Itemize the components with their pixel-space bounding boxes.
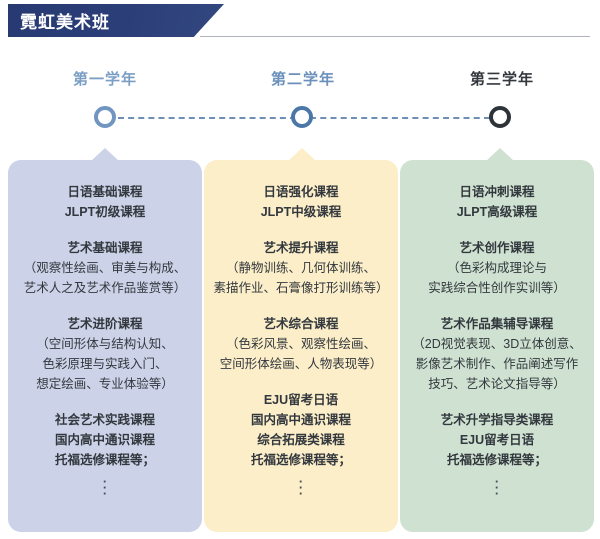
course-group: 艺术提升课程（静物训练、几何体训练、素描作业、石膏像打形训练等） (210, 238, 392, 298)
course-title-line: 托福选修课程等； (406, 450, 588, 470)
course-title-line: 艺术作品集辅导课程 (406, 314, 588, 334)
timeline: 第一学年 第二学年 第三学年 (0, 60, 600, 140)
course-title-line: JLPT高级课程 (406, 202, 588, 222)
course-group: 艺术作品集辅导课程（2D视觉表现、3D立体创意、影像艺术制作、作品阐述写作技巧、… (406, 314, 588, 394)
course-group: EJU留考日语国内高中通识课程综合拓展类课程托福选修课程等； (210, 390, 392, 470)
ellipsis-dot: · (210, 491, 392, 497)
timeline-label-year-one: 第一学年 (40, 68, 170, 89)
course-title-line: 艺术进阶课程 (14, 314, 196, 334)
timeline-node-year-three[interactable] (489, 106, 511, 128)
course-title-line: EJU留考日语 (210, 390, 392, 410)
course-detail-line: （静物训练、几何体训练、 (210, 258, 392, 278)
course-detail-line: 想定绘画、专业体验等） (14, 374, 196, 394)
course-title-line: JLPT中级课程 (210, 202, 392, 222)
curriculum-card-year-two[interactable]: 日语强化课程JLPT中级课程艺术提升课程（静物训练、几何体训练、素描作业、石膏像… (204, 160, 398, 532)
vertical-ellipsis: ··· (406, 479, 588, 497)
curriculum-card-year-three[interactable]: 日语冲刺课程JLPT高级课程艺术创作课程（色彩构成理论与实践综合性创作实训等）艺… (400, 160, 594, 532)
course-detail-line: 技巧、艺术论文指导等） (406, 374, 588, 394)
course-title-line: 社会艺术实践课程 (14, 410, 196, 430)
course-title-line: 托福选修课程等； (210, 450, 392, 470)
course-detail-line: （色彩风景、观察性绘画、 (210, 334, 392, 354)
course-detail-line: （空间形体与结构认知、 (14, 334, 196, 354)
course-title-line: 日语冲刺课程 (406, 182, 588, 202)
ellipsis-dot: · (406, 491, 588, 497)
curriculum-card-year-one[interactable]: 日语基础课程JLPT初级课程艺术基础课程（观察性绘画、审美与构成、艺术人之及艺术… (8, 160, 202, 532)
course-detail-line: （色彩构成理论与 (406, 258, 588, 278)
timeline-connector-two-three (310, 117, 490, 119)
course-group: 艺术综合课程（色彩风景、观察性绘画、空间形体绘画、人物表现等） (210, 314, 392, 374)
course-group: 艺术创作课程（色彩构成理论与实践综合性创作实训等） (406, 238, 588, 298)
course-title-line: 艺术提升课程 (210, 238, 392, 258)
timeline-node-year-two[interactable] (291, 106, 313, 128)
header-bar: 霓虹美术班 (8, 4, 224, 37)
vertical-ellipsis: ··· (14, 479, 196, 497)
course-title-line: JLPT初级课程 (14, 202, 196, 222)
course-group: 艺术进阶课程（空间形体与结构认知、色彩原理与实践入门、想定绘画、专业体验等） (14, 314, 196, 394)
group-spacer (14, 307, 196, 314)
group-spacer (14, 403, 196, 410)
course-detail-line: 影像艺术制作、作品阐述写作 (406, 354, 588, 374)
course-group: 日语基础课程JLPT初级课程 (14, 182, 196, 222)
course-title-line: EJU留考日语 (406, 430, 588, 450)
timeline-label-year-two: 第二学年 (238, 68, 368, 89)
course-detail-line: 色彩原理与实践入门、 (14, 354, 196, 374)
group-spacer (14, 231, 196, 238)
course-title-line: 艺术基础课程 (14, 238, 196, 258)
header-divider-rule (200, 36, 590, 37)
vertical-ellipsis: ··· (210, 479, 392, 497)
header-banner: 霓虹美术班 (0, 0, 600, 42)
group-spacer (406, 307, 588, 314)
course-detail-line: （观察性绘画、审美与构成、 (14, 258, 196, 278)
course-detail-line: 实践综合性创作实训等） (406, 278, 588, 298)
course-title-line: 艺术创作课程 (406, 238, 588, 258)
timeline-node-year-one[interactable] (94, 106, 116, 128)
course-title-line: 日语强化课程 (210, 182, 392, 202)
ellipsis-dot: · (14, 491, 196, 497)
course-title-line: 国内高中通识课程 (210, 410, 392, 430)
course-title-line: 艺术综合课程 (210, 314, 392, 334)
group-spacer (406, 403, 588, 410)
course-group: 日语冲刺课程JLPT高级课程 (406, 182, 588, 222)
course-title-line: 日语基础课程 (14, 182, 196, 202)
course-title-line: 艺术升学指导类课程 (406, 410, 588, 430)
page-title: 霓虹美术班 (20, 8, 110, 33)
timeline-connector-one-two (118, 117, 296, 119)
course-title-line: 综合拓展类课程 (210, 430, 392, 450)
course-detail-line: 艺术人之及艺术作品鉴赏等） (14, 278, 196, 298)
group-spacer (210, 231, 392, 238)
group-spacer (406, 231, 588, 238)
course-title-line: 托福选修课程等； (14, 450, 196, 470)
group-spacer (210, 307, 392, 314)
course-title-line: 国内高中通识课程 (14, 430, 196, 450)
curriculum-cards: 日语基础课程JLPT初级课程艺术基础课程（观察性绘画、审美与构成、艺术人之及艺术… (0, 148, 600, 534)
course-group: 社会艺术实践课程国内高中通识课程托福选修课程等； (14, 410, 196, 470)
course-detail-line: 空间形体绘画、人物表现等） (210, 354, 392, 374)
course-group: 艺术升学指导类课程EJU留考日语托福选修课程等； (406, 410, 588, 470)
timeline-label-year-three: 第三学年 (437, 68, 567, 89)
course-group: 日语强化课程JLPT中级课程 (210, 182, 392, 222)
course-detail-line: （2D视觉表现、3D立体创意、 (406, 334, 588, 354)
group-spacer (210, 383, 392, 390)
course-detail-line: 素描作业、石膏像打形训练等） (210, 278, 392, 298)
course-group: 艺术基础课程（观察性绘画、审美与构成、艺术人之及艺术作品鉴赏等） (14, 238, 196, 298)
